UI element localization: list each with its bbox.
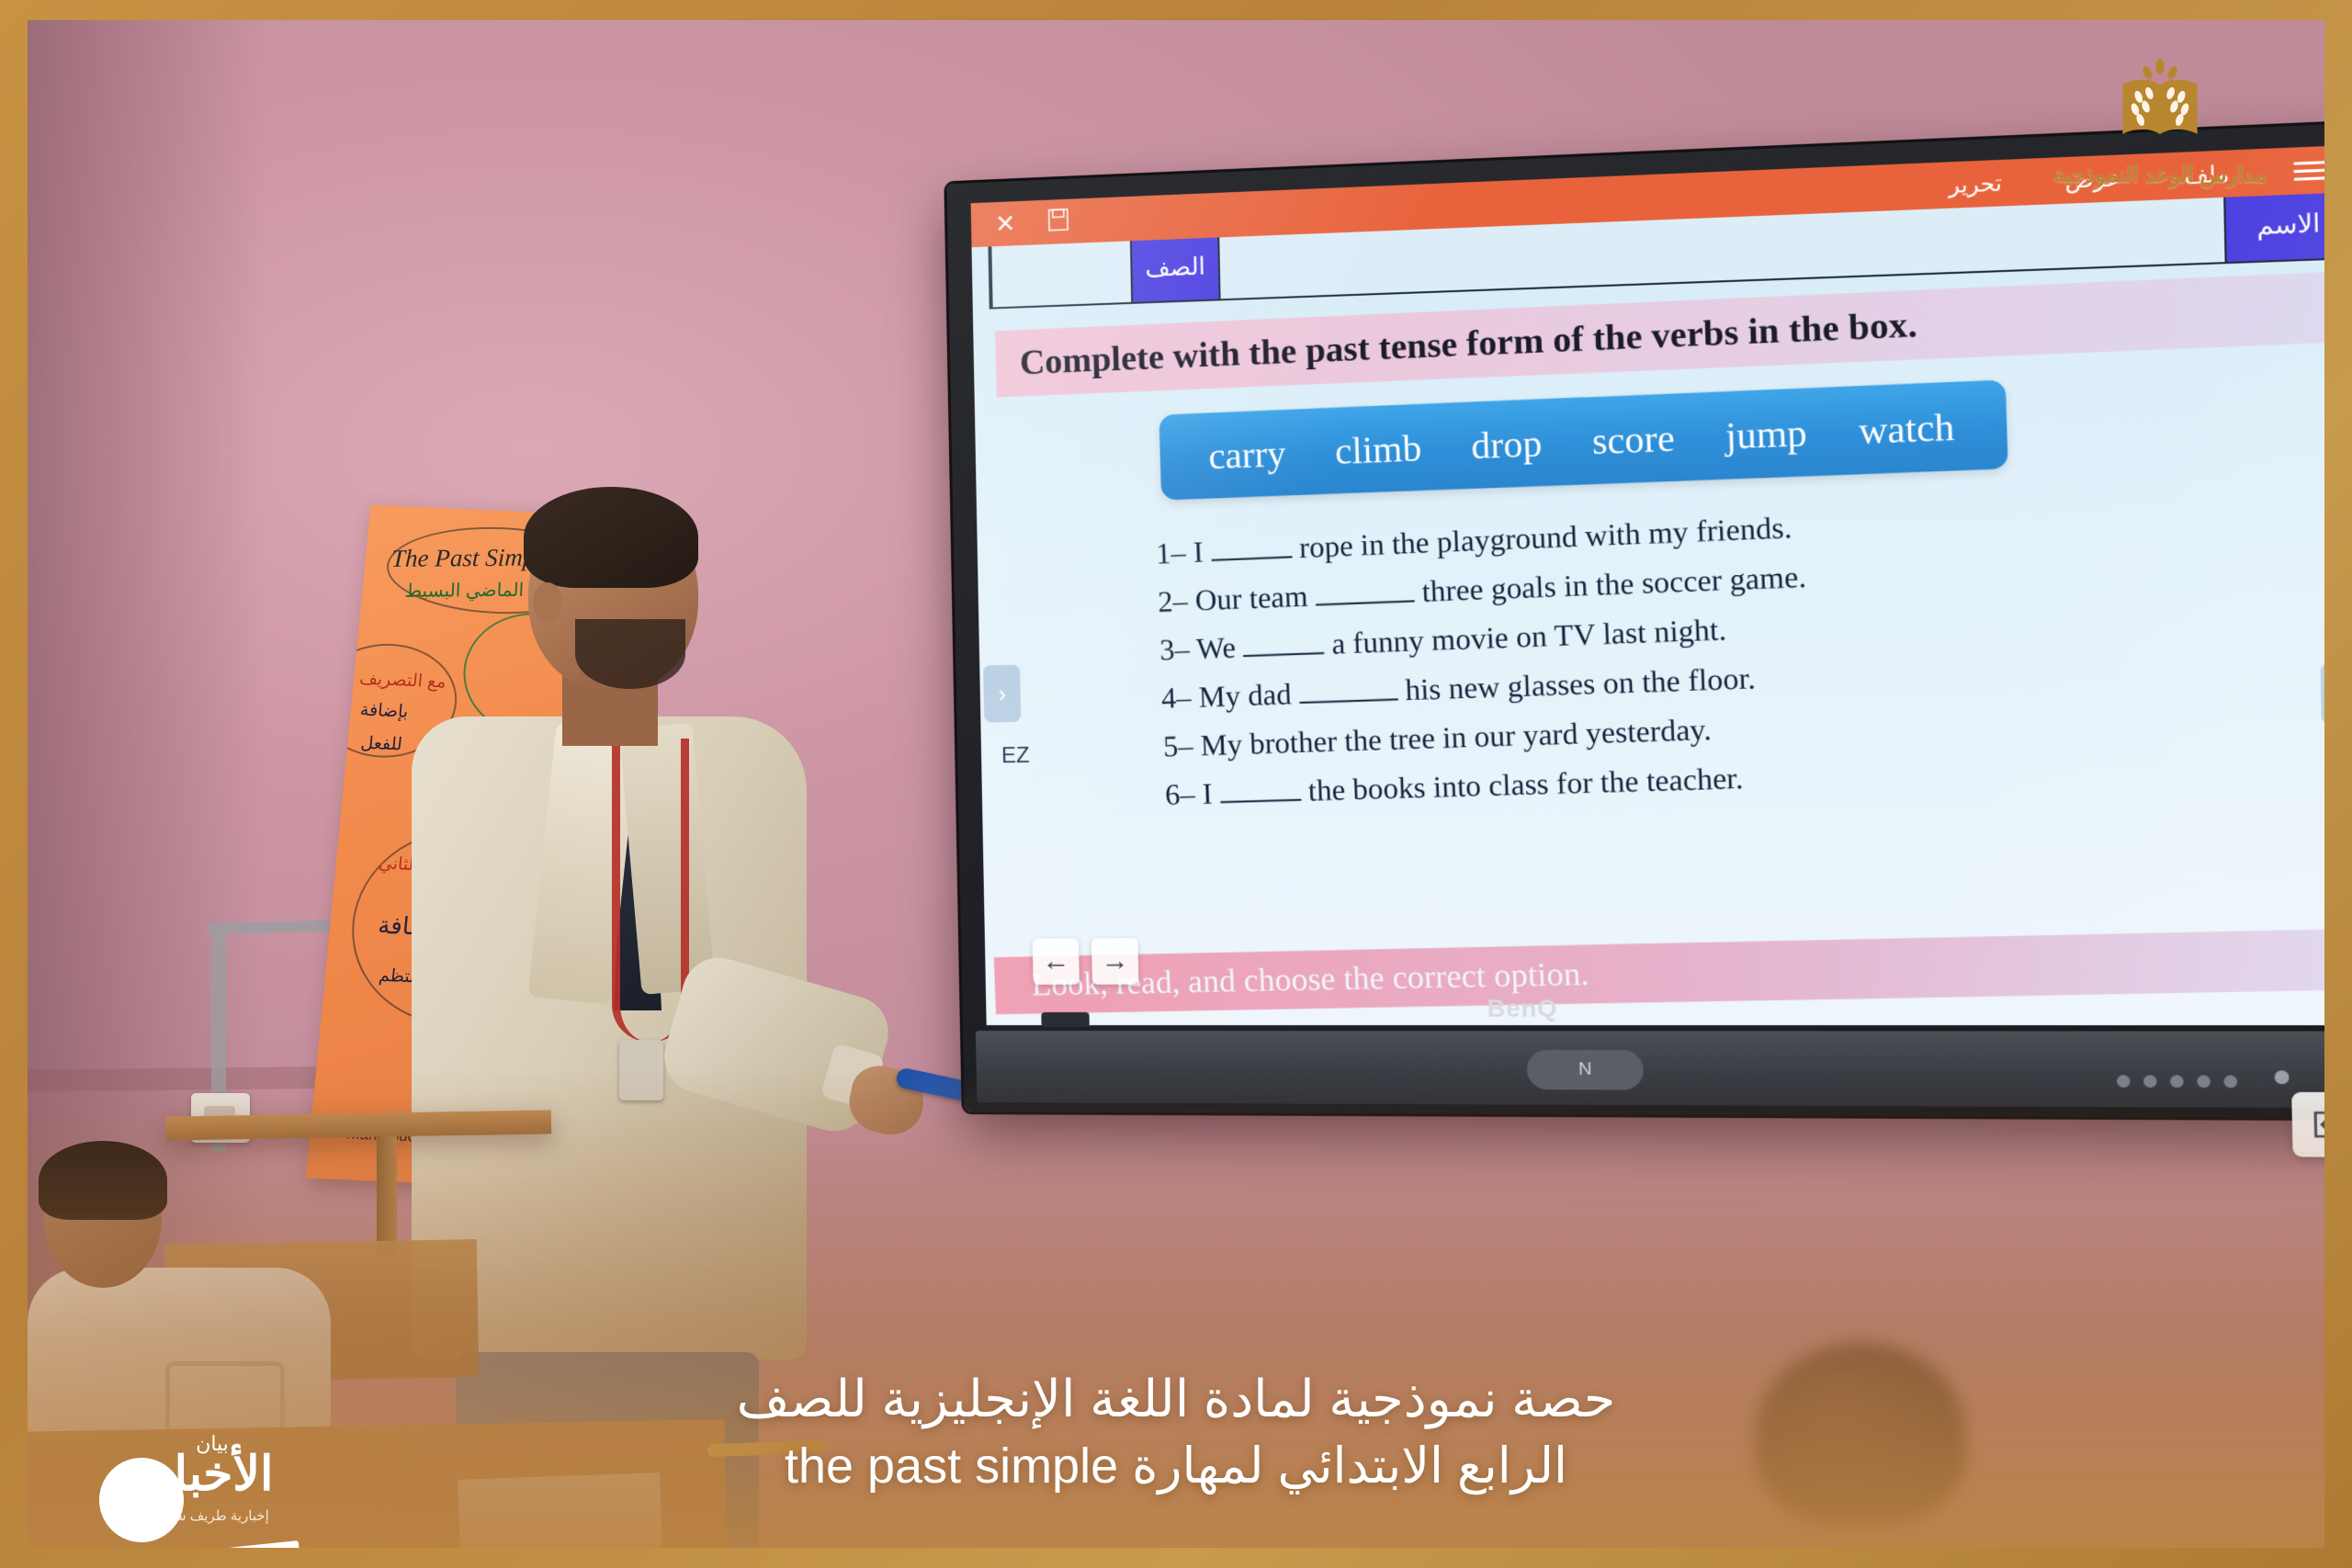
teacher-beard xyxy=(575,619,685,689)
question-text-before: My brother the tree in our yard yesterda… xyxy=(1200,712,1712,761)
menu-item-edit[interactable]: تحرير xyxy=(1948,170,2002,198)
right-side-handle-icon[interactable]: ‹ xyxy=(2321,662,2324,724)
benq-brand-label: BenQ xyxy=(1487,994,1558,1023)
open-book-emblem-icon xyxy=(2107,57,2213,158)
question-text-after: the books into class for the teacher. xyxy=(1307,761,1744,807)
question-text-before: Our team xyxy=(1194,579,1308,616)
word-carry: carry xyxy=(1208,431,1286,478)
video-caption: حصة نموذجية لمادة اللغة الإنجليزية للصف … xyxy=(28,1364,2324,1500)
answer-blank[interactable] xyxy=(1243,652,1324,657)
field-label-class: الصف xyxy=(1130,231,1219,301)
question-list: 1– I rope in the playground with my frie… xyxy=(1156,491,2249,827)
field-label-name: الاسم xyxy=(2223,192,2324,262)
answer-blank[interactable] xyxy=(1316,600,1415,605)
question-number: 2– xyxy=(1158,583,1189,618)
school-logo: مدارس الوعد النموذجية xyxy=(2045,57,2275,188)
ez-menu-label[interactable]: EZ xyxy=(1001,743,1030,770)
word-score: score xyxy=(1591,415,1675,463)
field-input-class[interactable] xyxy=(989,235,1131,307)
worksheet-page[interactable]: الاسم الصف Complete with the past tense … xyxy=(972,192,2324,1025)
answer-blank[interactable] xyxy=(1211,556,1292,561)
teacher-lanyard xyxy=(612,739,689,1042)
teacher-hair xyxy=(524,487,698,588)
question-number: 5– xyxy=(1162,728,1193,762)
word-climb: climb xyxy=(1334,425,1422,473)
caption-line-1: حصة نموذجية لمادة اللغة الإنجليزية للصف xyxy=(28,1364,2324,1434)
question-text-before: We xyxy=(1196,630,1237,665)
caption-line-2: الرابع الابتدائي لمهارة the past simple xyxy=(28,1433,2324,1500)
verb-word-box: carry climb drop score jump watch xyxy=(1159,379,2007,500)
question-text-before: I xyxy=(1202,776,1213,810)
answer-blank[interactable] xyxy=(1299,698,1397,704)
question-number: 1– xyxy=(1156,536,1187,570)
screenshot-root: The Past Simple الماضي البسيط مع التصريف… xyxy=(0,0,2352,1568)
left-side-handle-icon[interactable]: › xyxy=(983,665,1021,723)
question-text-after: his new glasses on the floor. xyxy=(1405,660,1757,706)
word-drop: drop xyxy=(1471,421,1543,468)
page-navigation[interactable]: ← → xyxy=(1033,938,1139,985)
next-page-button[interactable]: → xyxy=(1091,938,1138,985)
question-text-before: My dad xyxy=(1198,677,1292,714)
answer-blank[interactable] xyxy=(1220,799,1301,804)
word-watch: watch xyxy=(1858,403,1955,452)
question-number: 6– xyxy=(1164,777,1195,811)
next-instruction-banner: Look, read, and choose the correct optio… xyxy=(994,929,2324,1014)
teacher-ear xyxy=(533,582,562,623)
question-text-before: I xyxy=(1193,535,1204,569)
classroom-photo: The Past Simple الماضي البسيط مع التصريف… xyxy=(28,20,2324,1548)
save-icon[interactable] xyxy=(1046,207,1069,236)
question-text-after: three goals in the soccer game. xyxy=(1421,559,1807,608)
question-number: 3– xyxy=(1159,632,1191,667)
prev-page-button[interactable]: ← xyxy=(1033,938,1080,984)
word-jump: jump xyxy=(1724,410,1807,457)
display-side-button[interactable] xyxy=(1041,1012,1089,1027)
question-number: 4– xyxy=(1160,681,1192,715)
school-name: مدارس الوعد النموذجية xyxy=(2045,162,2275,188)
benq-interactive-display[interactable]: ✕ ملف عرض تحرير xyxy=(946,122,2324,1118)
display-screen[interactable]: ✕ ملف عرض تحرير xyxy=(971,145,2324,1026)
question-text-after: rope in the playground with my friends. xyxy=(1298,510,1792,564)
hamburger-icon[interactable] xyxy=(2293,160,2324,180)
close-icon[interactable]: ✕ xyxy=(995,211,1016,237)
question-text-after: a funny movie on TV last night. xyxy=(1331,612,1727,660)
